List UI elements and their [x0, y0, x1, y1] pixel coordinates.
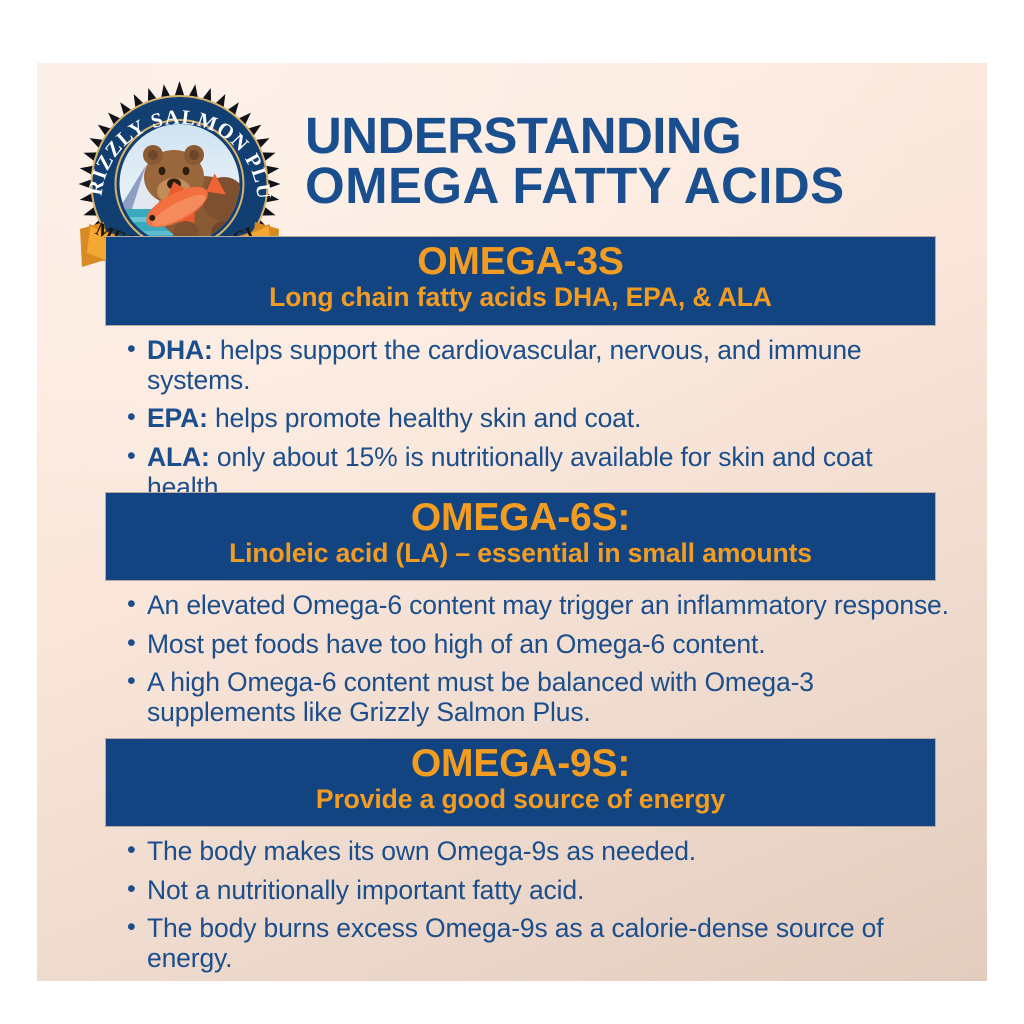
list-item-text: An elevated Omega-6 content may trigger …: [147, 590, 949, 620]
section-subheading-omega-6: Linoleic acid (LA) – essential in small …: [106, 538, 935, 573]
list-item: DHA: helps support the cardiovascular, n…: [125, 336, 955, 395]
section-banner-omega-3: OMEGA-3S Long chain fatty acids DHA, EPA…: [105, 236, 936, 326]
list-item: A high Omega-6 content must be balanced …: [125, 668, 955, 727]
list-item-text: helps support the cardiovascular, nervou…: [147, 335, 862, 395]
list-item: Not a nutritionally important fatty acid…: [125, 876, 955, 906]
infographic-poster: GRIZZLY SALMON PLUS OMEGA FATTY ACIDS WI…: [37, 63, 987, 981]
page-title-line1: UNDERSTANDING: [305, 111, 977, 161]
list-item: EPA: helps promote healthy skin and coat…: [125, 404, 955, 434]
section-bullets-omega-9: The body makes its own Omega-9s as neede…: [125, 837, 955, 981]
list-item-text: A high Omega-6 content must be balanced …: [147, 667, 814, 727]
section-heading-omega-9: OMEGA-9S:: [106, 743, 935, 784]
list-item: The body makes its own Omega-9s as neede…: [125, 837, 955, 867]
list-item-text: The body burns excess Omega-9s as a calo…: [147, 913, 883, 973]
list-item-text: The body makes its own Omega-9s as neede…: [147, 836, 696, 866]
section-bullets-omega-3: DHA: helps support the cardiovascular, n…: [125, 336, 955, 511]
list-item: The body burns excess Omega-9s as a calo…: [125, 914, 955, 973]
list-item-label: DHA:: [147, 335, 220, 365]
section-heading-omega-6: OMEGA-6S:: [106, 497, 935, 538]
section-heading-omega-3: OMEGA-3S: [106, 241, 935, 282]
list-item: An elevated Omega-6 content may trigger …: [125, 591, 955, 621]
page-title: UNDERSTANDING OMEGA FATTY ACIDS: [305, 111, 977, 212]
section-banner-omega-6: OMEGA-6S: Linoleic acid (LA) – essential…: [105, 492, 936, 581]
list-item: Most pet foods have too high of an Omega…: [125, 630, 955, 660]
section-bullets-omega-6: An elevated Omega-6 content may trigger …: [125, 591, 955, 737]
section-subheading-omega-3: Long chain fatty acids DHA, EPA, & ALA: [106, 282, 935, 317]
list-item-text: Not a nutritionally important fatty acid…: [147, 875, 584, 905]
list-item-label: ALA:: [147, 442, 217, 472]
list-item-label: EPA:: [147, 403, 215, 433]
list-item-text: Most pet foods have too high of an Omega…: [147, 629, 765, 659]
section-banner-omega-9: OMEGA-9S: Provide a good source of energ…: [105, 738, 936, 827]
page-title-line2: OMEGA FATTY ACIDS: [305, 161, 977, 211]
section-subheading-omega-9: Provide a good source of energy: [106, 784, 935, 819]
list-item-text: helps promote healthy skin and coat.: [215, 403, 641, 433]
